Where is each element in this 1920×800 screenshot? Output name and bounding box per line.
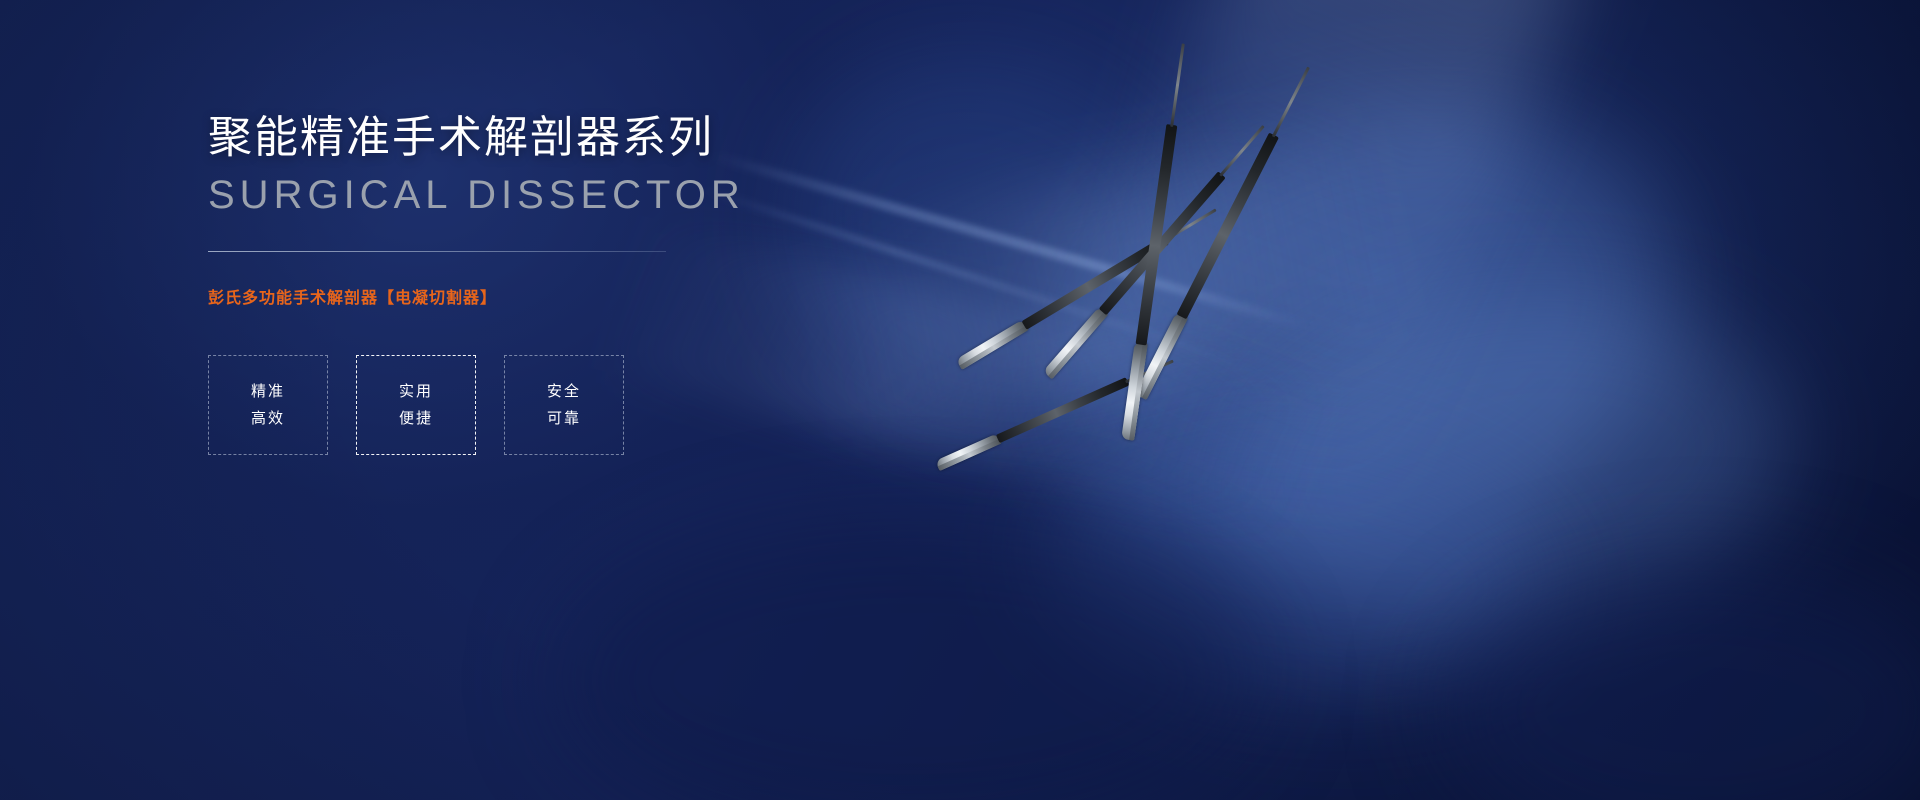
feature-badge-list: 精准 高效 实用 便捷 安全 可靠	[208, 355, 908, 455]
feature-badge-2-line2: 便捷	[399, 405, 433, 433]
title-divider	[208, 251, 666, 252]
product-subtitle: 彭氏多功能手术解剖器【电凝切割器】	[208, 284, 908, 308]
feature-badge-1-line2: 高效	[251, 405, 285, 433]
feature-badge-1: 精准 高效	[208, 355, 328, 455]
feature-badge-3-line1: 安全	[547, 378, 581, 406]
feature-badge-2-line1: 实用	[399, 378, 433, 406]
page-title-english: SURGICAL DISSECTOR	[208, 171, 908, 219]
page-title-chinese: 聚能精准手术解剖器系列	[208, 110, 908, 165]
feature-badge-3: 安全 可靠	[504, 355, 624, 455]
hero-banner: 聚能精准手术解剖器系列 SURGICAL DISSECTOR 彭氏多功能手术解剖…	[0, 0, 1920, 800]
feature-badge-3-line2: 可靠	[547, 405, 581, 433]
feature-badge-1-line1: 精准	[251, 378, 285, 406]
feature-badge-2: 实用 便捷	[356, 355, 476, 455]
banner-text-block: 聚能精准手术解剖器系列 SURGICAL DISSECTOR 彭氏多功能手术解剖…	[208, 110, 908, 455]
